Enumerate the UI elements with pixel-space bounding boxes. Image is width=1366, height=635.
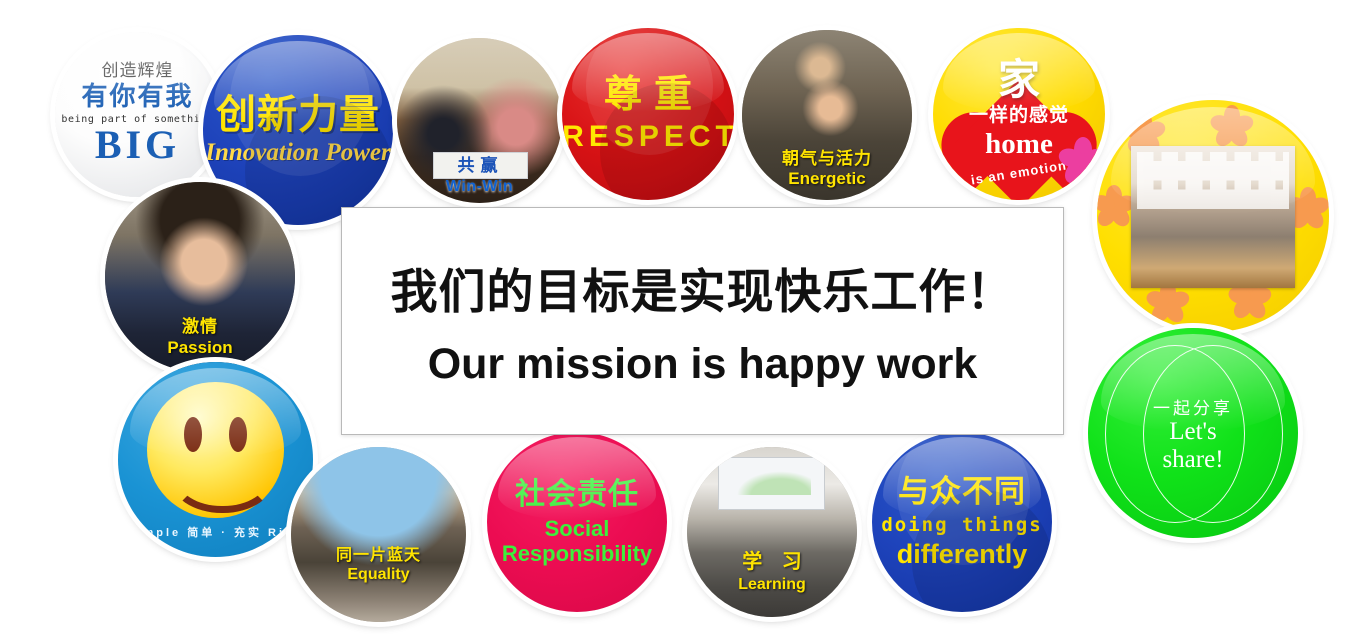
badge-line-1: 社会责任 (515, 478, 639, 512)
badge-simple-rich[interactable]: Simple 简单 · 充实 Rich (118, 362, 313, 557)
badge-content: Simple 简单 · 充实 Rich (118, 362, 313, 557)
badge-line-1: 朝气与活力 (742, 149, 912, 168)
badge-line-1: 创新力量 (216, 93, 380, 138)
badge-line-2: Learning (687, 576, 857, 594)
badge-line-2: Energetic (742, 169, 912, 188)
badge-being-part-of-something-big[interactable]: 创造辉煌 有你有我 being part of something BIG (55, 32, 220, 197)
badge-win-win[interactable]: 共赢 Win-Win (397, 38, 562, 203)
badge-text: 尊重 RESPECT (562, 28, 734, 200)
presentation-screen (718, 457, 825, 510)
mission-statement-en: Our mission is happy work (428, 340, 978, 389)
badge-content (1097, 100, 1329, 332)
badge-text: 社会责任 Social Responsibility (487, 432, 667, 612)
mission-statement-zh: 我们的目标是实现快乐工作！ (391, 253, 1015, 322)
badge-content: 激情 Passion (105, 182, 295, 372)
badge-team-photo[interactable] (1097, 100, 1329, 332)
badge-content: 创造辉煌 有你有我 being part of something BIG (55, 32, 220, 197)
badge-home-is-an-emotion[interactable]: 家 一样的感觉 home is an emotion (933, 28, 1105, 200)
badge-content: 共赢 Win-Win (397, 38, 562, 203)
badge-content: 朝气与活力 Energetic (742, 30, 912, 200)
smiley-face-icon (147, 382, 284, 519)
badge-line-1: 家 (933, 56, 1105, 103)
badge-line-1: 同一片蓝天 (291, 547, 466, 565)
badge-line-2: Innovation Power (205, 139, 390, 167)
poster-canvas: 创造辉煌 有你有我 being part of something BIG 创新… (0, 0, 1366, 635)
badge-line-1: 尊重 (592, 74, 704, 117)
badge-equality[interactable]: 同一片蓝天 Equality (291, 447, 466, 622)
badge-line-1: 共赢 (457, 156, 503, 175)
badge-content: 尊重 RESPECT (562, 28, 734, 200)
badge-line-2: doing things (881, 515, 1042, 536)
great-wall-photo (291, 447, 466, 622)
badge-line-2: Social (545, 517, 610, 542)
badge-line-4: BIG (95, 123, 180, 168)
desk-plaque: 共赢 (433, 152, 527, 179)
badge-line-2: Equality (291, 566, 466, 584)
badge-line-1: Simple 简单 · 充实 Rich (118, 527, 313, 539)
badge-content: 一起分享 Let's share! (1088, 328, 1298, 538)
badge-lets-share[interactable]: 一起分享 Let's share! (1088, 328, 1298, 538)
badge-line-1: 与众不同 (898, 475, 1026, 510)
badge-learning[interactable]: 学 习 Learning (687, 447, 857, 617)
badge-line-2: RESPECT (562, 120, 734, 154)
badge-doing-things-differently[interactable]: 与众不同 doing things differently (872, 432, 1052, 612)
flower-icon (1209, 104, 1255, 150)
badge-respect[interactable]: 尊重 RESPECT (562, 28, 734, 200)
badge-line-1: 创造辉煌 (102, 61, 174, 80)
badge-content: 与众不同 doing things differently (872, 432, 1052, 612)
badge-line-3: being part of something (61, 114, 213, 125)
mission-banner: 我们的目标是实现快乐工作！ Our mission is happy work (341, 207, 1064, 435)
badge-text: 创造辉煌 有你有我 being part of something BIG (55, 32, 220, 197)
badge-line-1: 激情 (105, 317, 295, 336)
badge-text: 与众不同 doing things differently (872, 432, 1052, 612)
badge-social-responsibility[interactable]: 社会责任 Social Responsibility (487, 432, 667, 612)
badge-content: 社会责任 Social Responsibility (487, 432, 667, 612)
badge-line-3: differently (897, 539, 1028, 569)
badge-line-2: Win-Win (397, 178, 562, 196)
badge-content: 同一片蓝天 Equality (291, 447, 466, 622)
group-photo (1131, 146, 1296, 288)
badge-energetic[interactable]: 朝气与活力 Energetic (742, 30, 912, 200)
badge-line-1: 学 习 (687, 551, 857, 573)
badge-line-2: 有你有我 (81, 82, 193, 111)
badge-content: 家 一样的感觉 home is an emotion (933, 28, 1105, 200)
venn-circle-right (1143, 345, 1284, 523)
badge-line-2: 一样的感觉 (933, 105, 1105, 126)
badge-line-3: Responsibility (502, 542, 652, 567)
badge-passion[interactable]: 激情 Passion (105, 182, 295, 372)
badge-line-2: Passion (105, 338, 295, 357)
badge-content: 学 习 Learning (687, 447, 857, 617)
